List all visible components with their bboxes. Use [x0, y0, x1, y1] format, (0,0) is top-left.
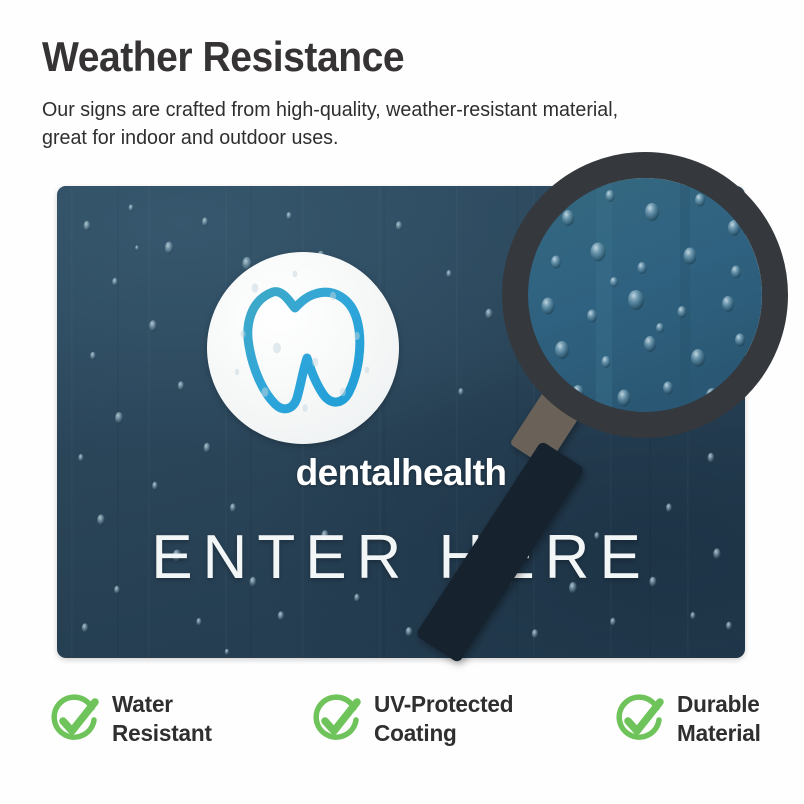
check-circle-icon: [48, 694, 100, 746]
brand-wordmark: dentalhealth: [296, 452, 507, 494]
check-circle-icon: [310, 694, 362, 746]
product-feature-graphic: Weather Resistance Our signs are crafted…: [0, 0, 804, 804]
feature-label: Durable Material: [677, 690, 761, 748]
logo-water-droplets: [207, 252, 399, 444]
feature-label: UV-Protected Coating: [374, 690, 513, 748]
sign-product-image: dentalhealth ENTER HERE: [57, 186, 745, 658]
feature-item: UV-Protected Coating: [310, 690, 519, 748]
check-circle-icon: [613, 694, 665, 746]
feature-item: Water Resistant: [48, 690, 216, 748]
feature-label: Water Resistant: [112, 690, 212, 748]
page-title: Weather Resistance: [42, 36, 404, 78]
brand-logo-badge: [207, 252, 399, 444]
sign-message: ENTER HERE: [151, 522, 651, 593]
page-subtitle: Our signs are crafted from high-quality,…: [42, 96, 656, 153]
feature-list: Water Resistant UV-Protected Coating Dur…: [48, 690, 764, 748]
feature-item: Durable Material: [613, 690, 764, 748]
